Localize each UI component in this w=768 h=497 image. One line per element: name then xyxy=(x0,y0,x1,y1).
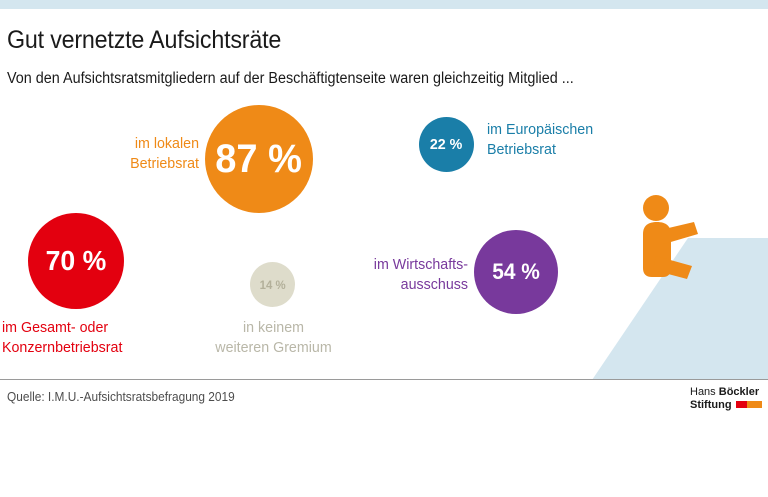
top-accent-bar xyxy=(0,0,768,9)
page-subtitle: Von den Aufsichtsratsmitgliedern auf der… xyxy=(7,69,718,88)
bubble-value-70: 70 % xyxy=(46,245,107,277)
bubble-value-54: 54 % xyxy=(492,259,540,285)
source-note: Quelle: I.M.U.-Aufsichtsratsbefragung 20… xyxy=(7,390,235,404)
bubble-lokaler-betriebsrat: 87 % xyxy=(205,105,313,213)
bubble-wirtschaftsausschuss: 54 % xyxy=(474,230,558,314)
bubble-europaeischer-betriebsrat: 22 % xyxy=(419,117,474,172)
hans-boeckler-stiftung-logo: Hans Böckler Stiftung xyxy=(690,386,762,411)
page-title: Gut vernetzte Aufsichtsräte xyxy=(7,25,695,55)
bubble-value-87: 87 % xyxy=(216,137,303,182)
infographic-canvas: Gut vernetzte Aufsichtsräte Von den Aufs… xyxy=(0,0,768,497)
bubble-caption-lokaler-betriebsrat: im lokalen Betriebsrat xyxy=(65,134,199,173)
bubble-caption-europaeischer-betriebsrat: im Europäischen Betriebsrat xyxy=(487,120,677,159)
logo-flag-icon xyxy=(736,401,762,408)
bubble-gesamt-konzernbetriebsrat: 70 % xyxy=(28,213,124,309)
footer-divider xyxy=(0,379,768,380)
bubble-value-14: 14 % xyxy=(259,278,285,292)
logo-line-one: Hans Böckler xyxy=(690,386,762,399)
bubble-value-22: 22 % xyxy=(430,136,462,153)
person-pictogram-icon xyxy=(630,194,714,290)
logo-text-stiftung: Stiftung xyxy=(690,399,732,412)
bubble-caption-wirtschaftsausschuss: im Wirtschafts- ausschuss xyxy=(327,255,468,294)
bubble-caption-gesamt-konzernbetriebsrat: im Gesamt- oder Konzernbetriebsrat xyxy=(2,318,202,357)
logo-text-hans: Hans xyxy=(690,386,719,398)
bubble-kein-weiteres-gremium: 14 % xyxy=(250,262,295,307)
logo-line-two: Stiftung xyxy=(690,399,762,412)
bubble-caption-kein-weiteres-gremium: in keinem weiteren Gremium xyxy=(190,318,356,357)
logo-text-boeckler: Böckler xyxy=(719,386,759,398)
